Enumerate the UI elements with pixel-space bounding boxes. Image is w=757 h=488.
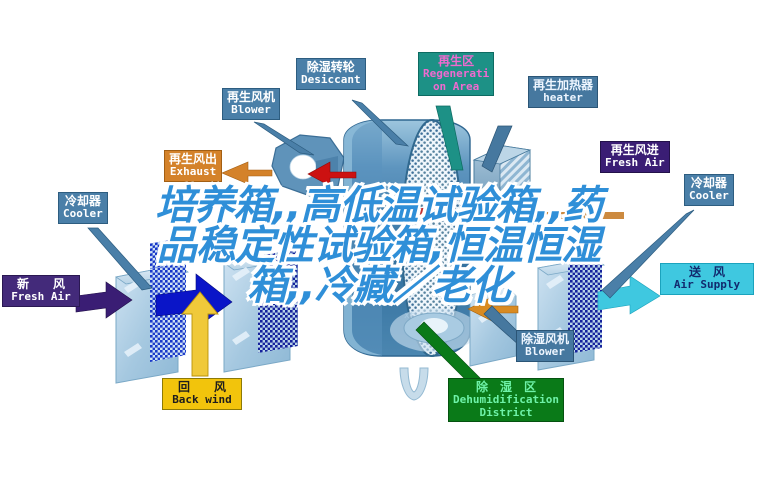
label-back-wind-cn: 回 风 <box>167 381 237 394</box>
leader-dehumid-district <box>416 322 486 384</box>
label-dehumid-blower[interactable]: 除湿风机 Blower <box>516 330 574 362</box>
label-regeneration-area-en-line1: Regenerati <box>423 68 489 80</box>
label-fresh-air-in[interactable]: 新 风 Fresh Air <box>2 275 80 307</box>
label-desiccant-rotor-cn: 除湿转轮 <box>301 61 361 74</box>
label-dehumidification-district-en-line1: Dehumidification <box>453 394 559 406</box>
label-regeneration-area[interactable]: 再生区 Regenerati on Area <box>418 52 494 96</box>
leader-regen-area <box>436 106 463 170</box>
label-regen-heater-cn: 再生加热器 <box>533 79 593 92</box>
label-fresh-air-in-cn: 新 风 <box>7 278 75 291</box>
label-fresh-air-in-en: Fresh Air <box>7 291 75 303</box>
label-regen-heater[interactable]: 再生加热器 heater <box>528 76 598 108</box>
label-dehumidification-district[interactable]: 除 湿 区 Dehumidification District <box>448 378 564 422</box>
label-desiccant-rotor-en: Desiccant <box>301 74 361 86</box>
label-regen-fresh-air-in-en: Fresh Air <box>605 157 665 169</box>
label-regen-exhaust-en: Exhaust <box>169 166 217 178</box>
leader-lines <box>0 0 757 488</box>
label-regen-fresh-air-in[interactable]: 再生风进 Fresh Air <box>600 141 670 173</box>
label-air-supply[interactable]: 送 风 Air Supply <box>660 263 754 295</box>
label-regen-blower-cn: 再生风机 <box>227 91 275 104</box>
label-regeneration-area-cn: 再生区 <box>423 55 489 68</box>
label-regen-exhaust-cn: 再生风出 <box>169 153 217 166</box>
leader-regen-blower <box>254 122 314 155</box>
label-cooler-left-cn: 冷却器 <box>63 195 103 208</box>
label-cooler-left[interactable]: 冷却器 Cooler <box>58 192 108 224</box>
label-regen-blower[interactable]: 再生风机 Blower <box>222 88 280 120</box>
label-dehumidification-district-en-line2: District <box>453 407 559 419</box>
label-regen-blower-en: Blower <box>227 104 275 116</box>
label-air-supply-en: Air Supply <box>665 279 749 291</box>
label-cooler-left-en: Cooler <box>63 208 103 220</box>
label-cooler-right-cn: 冷却器 <box>689 177 729 190</box>
label-regen-fresh-air-in-cn: 再生风进 <box>605 144 665 157</box>
label-dehumidification-district-cn: 除 湿 区 <box>453 381 559 394</box>
label-regeneration-area-en-line2: on Area <box>423 81 489 93</box>
diagram-canvas: xt <box>0 0 757 488</box>
label-cooler-right-en: Cooler <box>689 190 729 202</box>
label-regen-exhaust[interactable]: 再生风出 Exhaust <box>164 150 222 182</box>
leader-desiccant <box>352 100 408 146</box>
leader-heater <box>482 126 512 172</box>
label-desiccant-rotor[interactable]: 除湿转轮 Desiccant <box>296 58 366 90</box>
label-air-supply-cn: 送 风 <box>665 266 749 279</box>
label-back-wind-en: Back wind <box>167 394 237 406</box>
label-regen-heater-en: heater <box>533 92 593 104</box>
label-dehumid-blower-en: Blower <box>521 346 569 358</box>
label-back-wind[interactable]: 回 风 Back wind <box>162 378 242 410</box>
leader-cooler-left <box>88 228 152 290</box>
label-cooler-right[interactable]: 冷却器 Cooler <box>684 174 734 206</box>
label-dehumid-blower-cn: 除湿风机 <box>521 333 569 346</box>
